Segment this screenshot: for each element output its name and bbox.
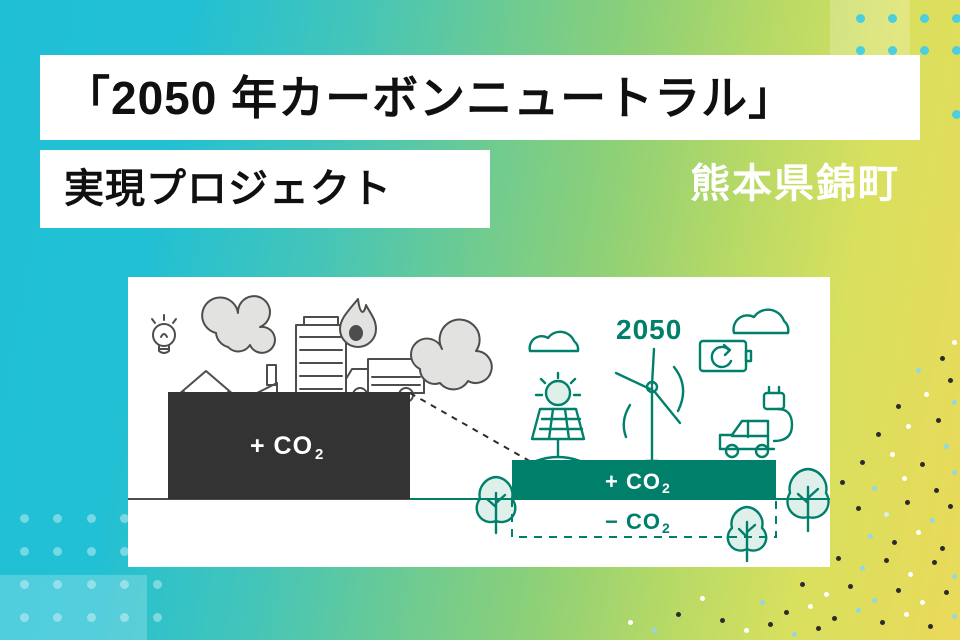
lightbulb-icon [152,315,176,353]
speckle-dot [800,582,805,587]
speckle-dot [904,612,909,617]
tree-icon [477,477,516,533]
speckle-dot [676,612,681,617]
speckle-dot [952,614,957,619]
speckle-dot [652,628,657,633]
speckle-dot [930,518,935,523]
speckle-dot [876,432,881,437]
speckle-dot [860,460,865,465]
speckle-dot [836,556,841,561]
carbon-neutral-diagram: .gl{fill:none;stroke:#4d4d4d;stroke-widt… [128,277,830,567]
speckle-dot [944,590,949,595]
speckle-dot [906,424,911,429]
speckle-dot [944,444,949,449]
speckle-dot [856,608,861,613]
illustration-panel: .gl{fill:none;stroke:#4d4d4d;stroke-widt… [128,277,830,567]
wind-turbine-icon [616,349,683,461]
speckle-dot [832,616,837,621]
speckle-dot [884,512,889,517]
speckle-dot [720,618,725,623]
smoke-cloud-icon [202,296,275,353]
speckle-dot [872,486,877,491]
electric-car-icon [720,387,792,457]
speckle-dot [840,480,845,485]
speckle-dot [952,400,957,405]
connector-line-top [410,393,540,467]
speckle-dot [628,620,633,625]
current-emissions-subscript: 2 [315,446,323,463]
speckle-dot [792,632,797,637]
solar-panel-icon [532,373,584,461]
smoke-cloud-large-icon [411,320,492,390]
future-emissions-subscript: 2 [662,480,670,496]
speckle-dot [880,620,885,625]
speckle-dot [924,392,929,397]
future-emissions-label: + CO [605,469,661,494]
speckle-dot [760,600,765,605]
speckle-dot [892,540,897,545]
speckle-dot [940,546,945,551]
speckle-dot [744,628,749,633]
speckle-dot [908,572,913,577]
speckle-dot [940,356,945,361]
speckle-dot [808,604,813,609]
page-subtitle: 実現プロジェクト [64,169,392,209]
year-label: 2050 [616,314,682,345]
speckle-dot [868,534,873,539]
battery-recharge-icon [700,341,751,371]
speckle-dot [860,566,865,571]
speckle-dot [928,624,933,629]
cloud-icon [734,310,789,333]
speckle-dot [948,504,953,509]
speckle-dot [768,622,773,627]
flame-icon [340,299,376,347]
poster-canvas: 「2050 年カーボンニュートラル」 実現プロジェクト 熊本県錦町 .gl{fi… [0,0,960,640]
speckle-dot [856,506,861,511]
speckle-dot [920,600,925,605]
current-emissions-label: + CO [250,432,313,460]
cloud-icon [530,332,578,351]
offset-label: − CO [605,509,661,534]
speckle-dot [816,626,821,631]
speckle-dot [896,588,901,593]
speckle-dot [932,560,937,565]
speckle-dot [934,488,939,493]
speckle-dot [890,452,895,457]
tree-icon [728,507,766,561]
speckle-dot [916,368,921,373]
speckle-dot [952,340,957,345]
speckle-dot [920,462,925,467]
speckle-dot [905,500,910,505]
speckle-dot [784,610,789,615]
speckle-dot [896,404,901,409]
speckle-dot [700,596,705,601]
title-box-secondary: 実現プロジェクト [40,150,490,228]
speckle-dot [884,558,889,563]
speckle-dot [952,470,957,475]
speckle-dot [872,598,877,603]
speckle-dot [916,530,921,535]
offset-subscript: 2 [662,520,670,536]
title-box-primary: 「2050 年カーボンニュートラル」 [40,55,920,140]
speckle-dot [848,584,853,589]
region-label: 熊本県錦町 [690,160,900,208]
speckle-dot [936,418,941,423]
speckle-dot [902,476,907,481]
page-title: 「2050 年カーボンニュートラル」 [64,75,795,121]
speckle-dot [948,378,953,383]
speckle-dot [952,574,957,579]
speckle-dot [824,592,829,597]
